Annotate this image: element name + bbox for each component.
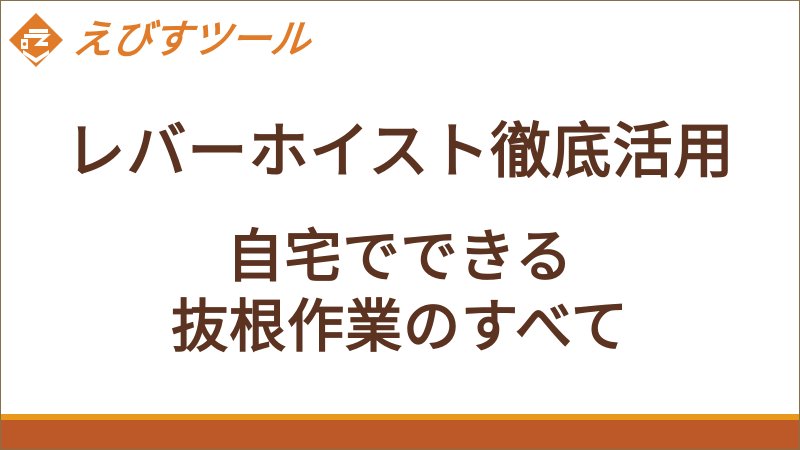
title-slide: えびすツール レバーホイスト徹底活用 自宅でできる 抜根作業のすべて: [0, 0, 800, 450]
subtitle-line-2: 抜根作業のすべて: [1, 293, 799, 363]
brand-name-text: えびすツール: [71, 20, 312, 60]
page-subtitle: 自宅でできる 抜根作業のすべて: [1, 223, 799, 362]
footer-bar: [1, 420, 799, 449]
ebisu-diamond-logo-icon: [8, 12, 64, 68]
title-main-line: レバーホイスト徹底活用: [1, 119, 799, 185]
page-title: レバーホイスト徹底活用: [1, 119, 799, 185]
brand-logo: えびすツール: [1, 1, 799, 79]
subtitle-line-1: 自宅でできる: [1, 223, 799, 293]
